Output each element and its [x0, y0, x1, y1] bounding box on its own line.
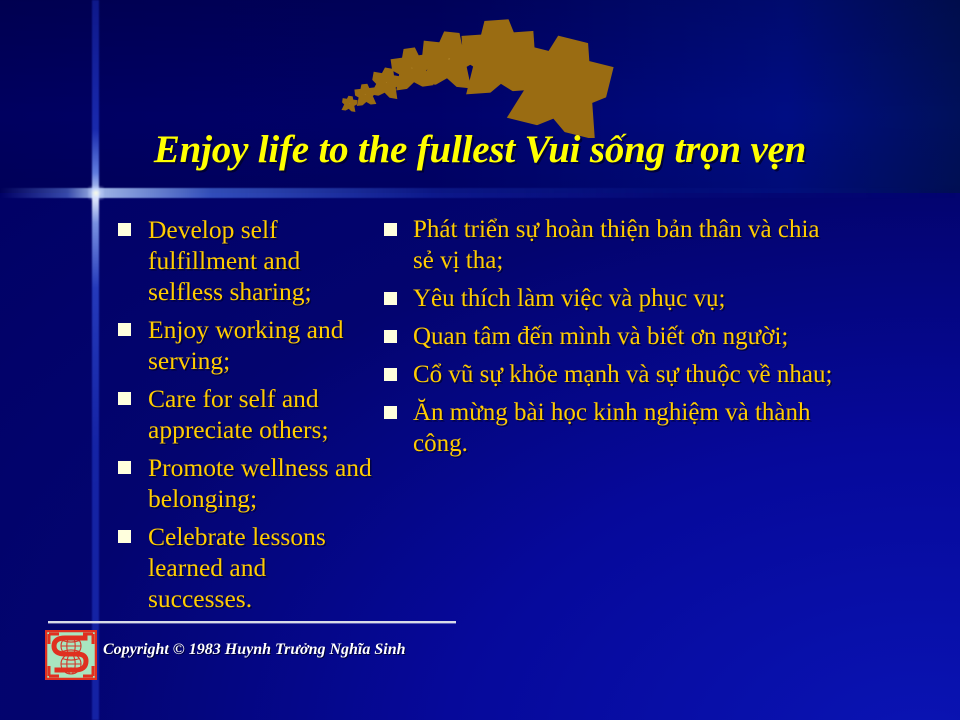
- list-item: Promote wellness and belonging;: [118, 452, 372, 514]
- slide-canvas: Enjoy life to the fullest Vui sống trọn …: [0, 0, 960, 720]
- list-item: Phát triển sự hoàn thiện bản thân và chi…: [384, 214, 842, 276]
- square-bullet-icon: [384, 406, 397, 419]
- footer-divider: [48, 621, 456, 623]
- list-item: Quan tâm đến mình và biết ơn người;: [384, 321, 842, 352]
- list-item-label: Quan tâm đến mình và biết ơn người;: [413, 321, 788, 352]
- nghia-sinh-globe-s-logo-icon: [45, 630, 97, 680]
- page-title: Enjoy life to the fullest Vui sống trọn …: [0, 127, 960, 172]
- column-english: Develop self fulfillment and selfless sh…: [0, 214, 372, 621]
- square-bullet-icon: [384, 368, 397, 381]
- square-bullet-icon: [118, 461, 131, 474]
- list-item: Ăn mừng bài học kinh nghiệm và thành côn…: [384, 397, 842, 459]
- square-bullet-icon: [384, 330, 397, 343]
- list-item-label: Care for self and appreciate others;: [148, 383, 372, 445]
- list-item: Enjoy working and serving;: [118, 314, 372, 376]
- column-vietnamese: Phát triển sự hoàn thiện bản thân và chi…: [372, 214, 842, 621]
- list-item-label: Cổ vũ sự khỏe mạnh và sự thuộc về nhau;: [413, 359, 832, 390]
- list-item-label: Yêu thích làm việc và phục vụ;: [413, 283, 725, 314]
- list-item-label: Phát triển sự hoàn thiện bản thân và chi…: [413, 214, 842, 276]
- crosshair-glow: [88, 186, 104, 200]
- list-item: Celebrate lessons learned and successes.: [118, 521, 372, 614]
- horizontal-glow-line: [0, 188, 960, 198]
- square-bullet-icon: [118, 530, 131, 543]
- square-bullet-icon: [118, 223, 131, 236]
- list-item-label: Celebrate lessons learned and successes.: [148, 521, 372, 614]
- square-bullet-icon: [384, 223, 397, 236]
- square-bullet-icon: [118, 392, 131, 405]
- list-item: Yêu thích làm việc và phục vụ;: [384, 283, 842, 314]
- list-item-label: Enjoy working and serving;: [148, 314, 372, 376]
- list-item: Develop self fulfillment and selfless sh…: [118, 214, 372, 307]
- list-item-label: Promote wellness and belonging;: [148, 452, 372, 514]
- copyright-notice: Copyright © 1983 Huynh Trưởng Nghĩa Sinh: [103, 641, 406, 659]
- bullet-columns: Develop self fulfillment and selfless sh…: [0, 214, 960, 621]
- square-bullet-icon: [118, 323, 131, 336]
- square-bullet-icon: [384, 292, 397, 305]
- logo-svg: [45, 630, 97, 680]
- list-item: Care for self and appreciate others;: [118, 383, 372, 445]
- list-item-label: Ăn mừng bài học kinh nghiệm và thành côn…: [413, 397, 842, 459]
- list-item-label: Develop self fulfillment and selfless sh…: [148, 214, 372, 307]
- list-item: Cổ vũ sự khỏe mạnh và sự thuộc về nhau;: [384, 359, 842, 390]
